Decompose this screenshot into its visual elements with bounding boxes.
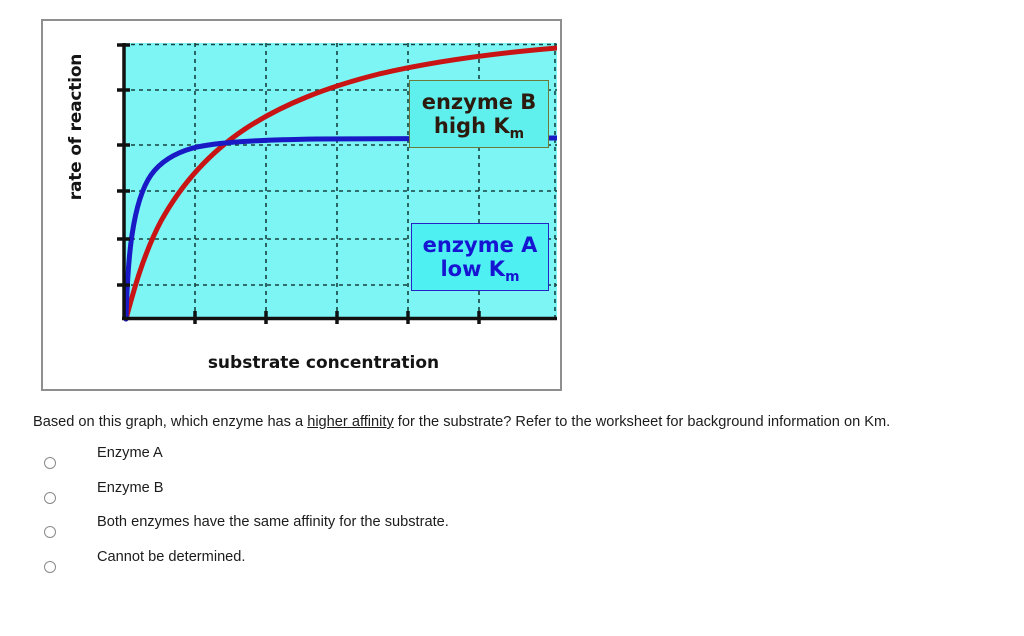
option-label[interactable]: Cannot be determined. (97, 549, 245, 565)
radio-button-icon[interactable] (44, 526, 56, 538)
option-row-enzyme-a[interactable]: Enzyme A (33, 442, 633, 477)
callout-enzyme-a-km-subscript: m (505, 270, 519, 286)
callout-enzyme-b: enzyme B high Km (409, 80, 549, 148)
option-label[interactable]: Enzyme A (97, 445, 163, 461)
callout-enzyme-b-km-subscript: m (510, 127, 524, 143)
enzyme-kinetics-figure: rate of reaction (41, 19, 562, 391)
question-emphasis: higher affinity (307, 414, 394, 430)
callout-enzyme-b-km: high K (434, 114, 510, 138)
option-row-cannot-be-determined[interactable]: Cannot be determined. (33, 546, 633, 581)
question-prefix: Based on this graph, which enzyme has a (33, 414, 307, 430)
option-label[interactable]: Enzyme B (97, 480, 164, 496)
answer-options: Enzyme A Enzyme B Both enzymes have the … (33, 442, 633, 580)
callout-enzyme-a: enzyme A low Km (411, 223, 549, 291)
radio-button-icon[interactable] (44, 561, 56, 573)
x-axis-title: substrate concentration (43, 353, 564, 373)
callout-enzyme-b-line1: enzyme B (410, 90, 548, 114)
option-label[interactable]: Both enzymes have the same affinity for … (97, 514, 449, 530)
callout-enzyme-a-km: low K (440, 257, 505, 281)
callout-enzyme-b-line2: high Km (410, 114, 548, 138)
callout-enzyme-a-line1: enzyme A (412, 233, 548, 257)
radio-button-icon[interactable] (44, 492, 56, 504)
callout-enzyme-a-line2: low Km (412, 257, 548, 281)
radio-button-icon[interactable] (44, 457, 56, 469)
option-row-same-affinity[interactable]: Both enzymes have the same affinity for … (33, 511, 633, 546)
option-row-enzyme-b[interactable]: Enzyme B (33, 477, 633, 512)
question-prompt: Based on this graph, which enzyme has a … (33, 412, 983, 432)
question-suffix: for the substrate? Refer to the workshee… (394, 414, 890, 430)
y-axis-title: rate of reaction (66, 47, 86, 207)
